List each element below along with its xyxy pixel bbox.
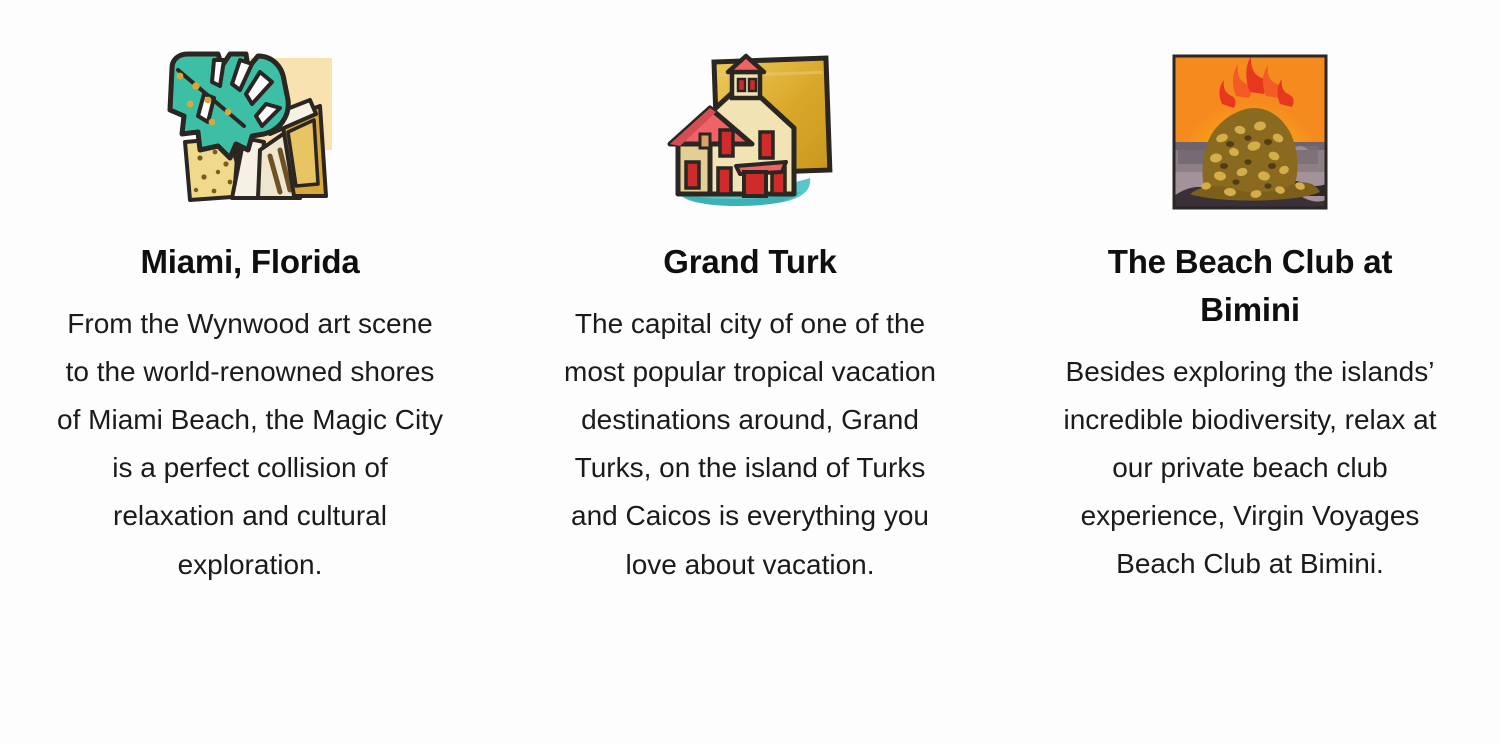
grand-turk-colonial-house-icon — [660, 46, 840, 224]
destination-card-grand-turk: Grand Turk The capital city of one of th… — [500, 46, 1000, 589]
destination-title: The Beach Club at Bimini — [1075, 238, 1425, 334]
destination-card-miami: Miami, Florida From the Wynwood art scen… — [0, 46, 500, 589]
destination-description: Besides exploring the islands’ incredibl… — [1055, 348, 1445, 589]
destination-title: Grand Turk — [663, 238, 836, 286]
destination-description: From the Wynwood art scene to the world-… — [54, 300, 446, 589]
destination-card-bimini: The Beach Club at Bimini Besides explori… — [1000, 46, 1500, 588]
destination-description: The capital city of one of the most popu… — [559, 300, 941, 589]
destination-title: Miami, Florida — [140, 238, 359, 286]
destinations-grid: Miami, Florida From the Wynwood art scen… — [0, 0, 1500, 744]
bimini-conch-mound-sunset-icon — [1160, 46, 1340, 224]
miami-monstera-leaf-artdeco-icon — [160, 46, 340, 224]
